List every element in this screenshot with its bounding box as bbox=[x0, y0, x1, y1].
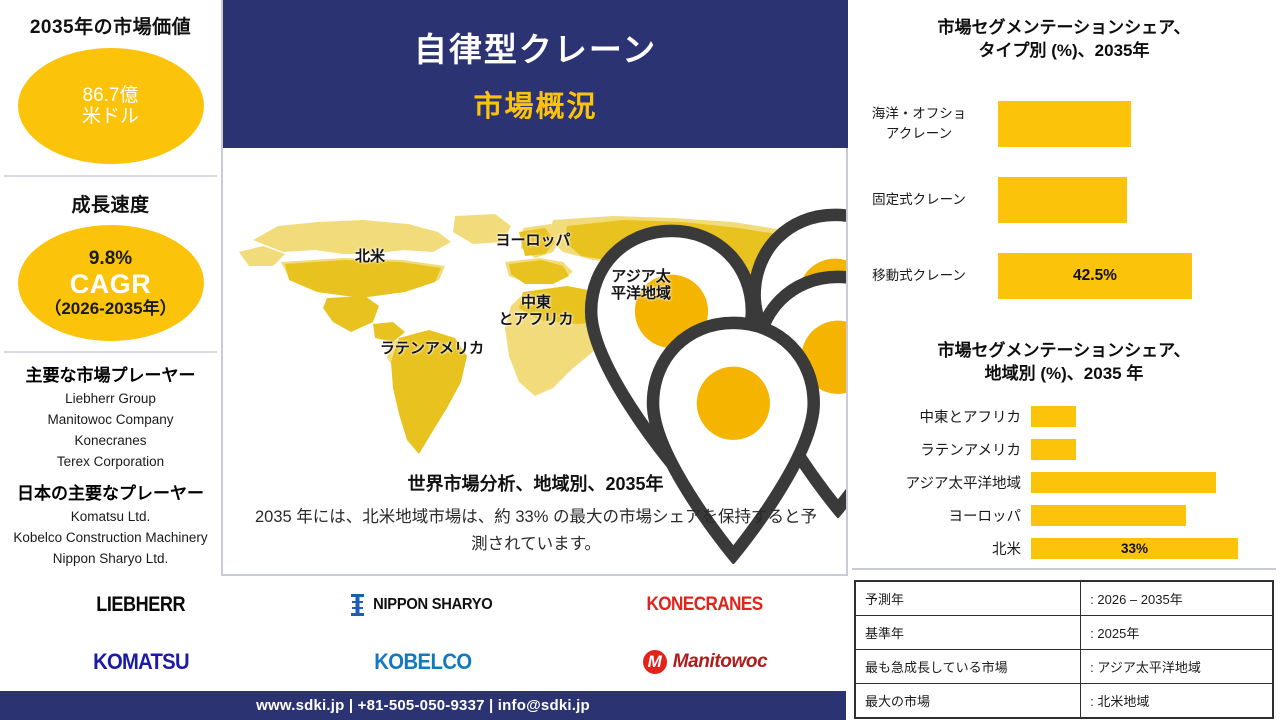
footer-text[interactable]: www.sdki.jp | +81-505-050-9337 | info@sd… bbox=[256, 697, 590, 714]
market-value-line2: 米ドル bbox=[82, 106, 139, 127]
logo-nippon-sharyo: NIPPON SHARYO bbox=[351, 594, 496, 616]
map-pin-europe[interactable]: ヨーロッパ bbox=[495, 206, 570, 250]
bar-value-label: 33% bbox=[1121, 541, 1148, 556]
map-panel: 北米 ヨーロッパ 中東 とアフリカ アジア太 平洋地域 bbox=[223, 148, 848, 576]
location-pin-icon bbox=[421, 314, 443, 342]
growth-rate: 9.8% bbox=[89, 248, 132, 269]
sidebar: 2035年の市場価値 86.7億 米ドル 成長速度 9.8% CAGR （202… bbox=[0, 0, 223, 576]
page-header: 自律型クレーン 市場概況 bbox=[223, 0, 848, 148]
list-item: Liebherr Group bbox=[0, 389, 221, 410]
bar-europe bbox=[1031, 505, 1186, 526]
chart-bar-row: 固定式クレーン bbox=[848, 162, 1280, 238]
map-pin-north-america[interactable]: 北米 bbox=[355, 222, 385, 266]
logo-konecranes: KONECRANES bbox=[640, 594, 769, 616]
list-item: Nippon Sharyo Ltd. bbox=[0, 549, 221, 570]
fact-value: : 北米地域 bbox=[1081, 684, 1273, 718]
chart-bar-row: 北米 33% bbox=[848, 532, 1280, 565]
logo-text: Manitowoc bbox=[673, 651, 768, 673]
right-column-divider bbox=[852, 568, 1276, 570]
key-facts-table: 予測年 : 2026 – 2035年 基準年 : 2025年 最も急成長している… bbox=[854, 580, 1274, 719]
key-players-block: 主要な市場プレーヤー Liebherr Group Manitowoc Comp… bbox=[0, 353, 221, 473]
map-pin-asia-pacific[interactable]: アジア太 平洋地域 bbox=[611, 242, 671, 303]
logo-komatsu: KOMATSU bbox=[89, 649, 193, 675]
fact-key: 最大の市場 bbox=[856, 684, 1081, 718]
japan-players-block: 日本の主要なプレーヤー Komatsu Ltd. Kobelco Constru… bbox=[0, 473, 221, 570]
logo-text: KOMATSU bbox=[93, 649, 189, 675]
page-title: 自律型クレーン bbox=[414, 23, 657, 71]
fact-key: 基準年 bbox=[856, 616, 1081, 650]
table-row: 基準年 : 2025年 bbox=[856, 616, 1273, 650]
list-item: Kobelco Construction Machinery bbox=[0, 528, 221, 549]
world-map: 北米 ヨーロッパ 中東 とアフリカ アジア太 平洋地域 bbox=[223, 210, 848, 460]
growth-ellipse: 9.8% CAGR （2026-2035年） bbox=[18, 225, 204, 341]
logo-text: LIEBHERR bbox=[97, 593, 186, 617]
bar-category-label: 移動式クレーン bbox=[848, 266, 998, 286]
chart-bars: 海洋・オフショ アクレーン 固定式クレーン 移動式クレーン 42.5% bbox=[848, 86, 1280, 314]
bar-category-label: 北米 bbox=[848, 538, 1031, 559]
location-pin-icon bbox=[630, 242, 652, 270]
growth-period: （2026-2035年） bbox=[44, 299, 176, 318]
growth-block: 成長速度 9.8% CAGR （2026-2035年） bbox=[0, 177, 221, 341]
logo-kobelco: KOBELCO bbox=[370, 649, 476, 675]
chart-bar-row: ヨーロッパ bbox=[848, 499, 1280, 532]
fact-value: : アジア太平洋地域 bbox=[1081, 650, 1273, 684]
logo-text: KOBELCO bbox=[374, 649, 471, 675]
logo-manitowoc: M Manitowoc bbox=[643, 650, 768, 674]
chart-title: 市場セグメンテーションシェア、 タイプ別 (%)、2035年 bbox=[864, 17, 1264, 63]
list-item: Manitowoc Company bbox=[0, 410, 221, 431]
chart-market-share-by-type: 市場セグメンテーションシェア、 タイプ別 (%)、2035年 海洋・オフショ ア… bbox=[848, 0, 1280, 330]
logo-text: NIPPON SHARYO bbox=[373, 596, 492, 614]
market-value-title: 2035年の市場価値 bbox=[0, 12, 221, 39]
chart-bars: 中東とアフリカ ラテンアメリカ アジア太平洋地域 bbox=[848, 400, 1280, 565]
right-column: 市場セグメンテーションシェア、 タイプ別 (%)、2035年 海洋・オフショ ア… bbox=[848, 0, 1280, 720]
bar-offshore-crane bbox=[998, 101, 1131, 147]
key-players-title: 主要な市場プレーヤー bbox=[0, 361, 221, 386]
chart-bar-row: 海洋・オフショ アクレーン bbox=[848, 86, 1280, 162]
chart-bar-row: 中東とアフリカ bbox=[848, 400, 1280, 433]
bar-value-label: 42.5% bbox=[1073, 267, 1117, 285]
bar-category-label: アジア太平洋地域 bbox=[848, 472, 1031, 493]
logo-text: KONECRANES bbox=[647, 594, 763, 616]
footer-contact-bar: www.sdki.jp | +81-505-050-9337 | info@sd… bbox=[0, 691, 846, 720]
fact-key: 最も急成長している市場 bbox=[856, 650, 1081, 684]
bar-category-label: ラテンアメリカ bbox=[848, 439, 1031, 460]
bar-mobile-crane: 42.5% bbox=[998, 253, 1192, 299]
company-logo-strip: LIEBHERR NIPPON SHARYO KONECRANES KOMATS… bbox=[0, 576, 846, 691]
fact-value: : 2026 – 2035年 bbox=[1081, 582, 1273, 616]
map-pin-latin-america[interactable]: ラテンアメリカ bbox=[380, 314, 484, 358]
bar-category-label: 中東とアフリカ bbox=[848, 406, 1031, 427]
market-value-block: 2035年の市場価値 86.7億 米ドル bbox=[0, 0, 221, 164]
page-subtitle: 市場概況 bbox=[473, 83, 597, 125]
list-item: Komatsu Ltd. bbox=[0, 507, 221, 528]
nippon-sharyo-mark-icon bbox=[351, 594, 364, 616]
bar-asia-pacific bbox=[1031, 472, 1216, 493]
chart-market-share-by-region: 市場セグメンテーションシェア、 地域別 (%)、2035 年 中東とアフリカ ラ… bbox=[848, 334, 1280, 574]
bar-category-label: 海洋・オフショ アクレーン bbox=[848, 104, 998, 145]
bar-middle-east-africa bbox=[1031, 406, 1076, 427]
chart-bar-row: ラテンアメリカ bbox=[848, 433, 1280, 466]
map-caption: 世界市場分析、地域別、2035年 bbox=[223, 470, 848, 496]
growth-cagr-label: CAGR bbox=[70, 269, 152, 299]
chart-bar-row: 移動式クレーン 42.5% bbox=[848, 238, 1280, 314]
location-pin-icon bbox=[522, 206, 544, 234]
bar-latin-america bbox=[1031, 439, 1076, 460]
chart-bar-row: アジア太平洋地域 bbox=[848, 466, 1280, 499]
map-description: 2035 年には、北米地域市場は、約 33% の最大の市場シェアを保持すると予測… bbox=[251, 504, 821, 558]
list-item: Konecranes bbox=[0, 431, 221, 452]
market-value-ellipse: 86.7億 米ドル bbox=[18, 48, 204, 164]
bar-north-america: 33% bbox=[1031, 538, 1238, 559]
manitowoc-mark-icon: M bbox=[643, 650, 667, 674]
infographic-page: 2035年の市場価値 86.7億 米ドル 成長速度 9.8% CAGR （202… bbox=[0, 0, 1280, 720]
chart-title: 市場セグメンテーションシェア、 地域別 (%)、2035 年 bbox=[860, 340, 1268, 386]
bar-category-label: ヨーロッパ bbox=[848, 505, 1031, 526]
table-row: 予測年 : 2026 – 2035年 bbox=[856, 582, 1273, 616]
location-pin-icon bbox=[525, 268, 547, 296]
japan-players-title: 日本の主要なプレーヤー bbox=[0, 479, 221, 504]
table-row: 最大の市場 : 北米地域 bbox=[856, 684, 1273, 718]
list-item: Terex Corporation bbox=[0, 452, 221, 473]
market-value-line1: 86.7億 bbox=[83, 85, 139, 106]
bar-fixed-crane bbox=[998, 177, 1127, 223]
logo-liebherr: LIEBHERR bbox=[89, 593, 192, 617]
growth-title: 成長速度 bbox=[0, 190, 221, 217]
fact-key: 予測年 bbox=[856, 582, 1081, 616]
location-pin-icon bbox=[359, 222, 381, 250]
bar-category-label: 固定式クレーン bbox=[848, 190, 998, 210]
fact-value: : 2025年 bbox=[1081, 616, 1273, 650]
table-row: 最も急成長している市場 : アジア太平洋地域 bbox=[856, 650, 1273, 684]
